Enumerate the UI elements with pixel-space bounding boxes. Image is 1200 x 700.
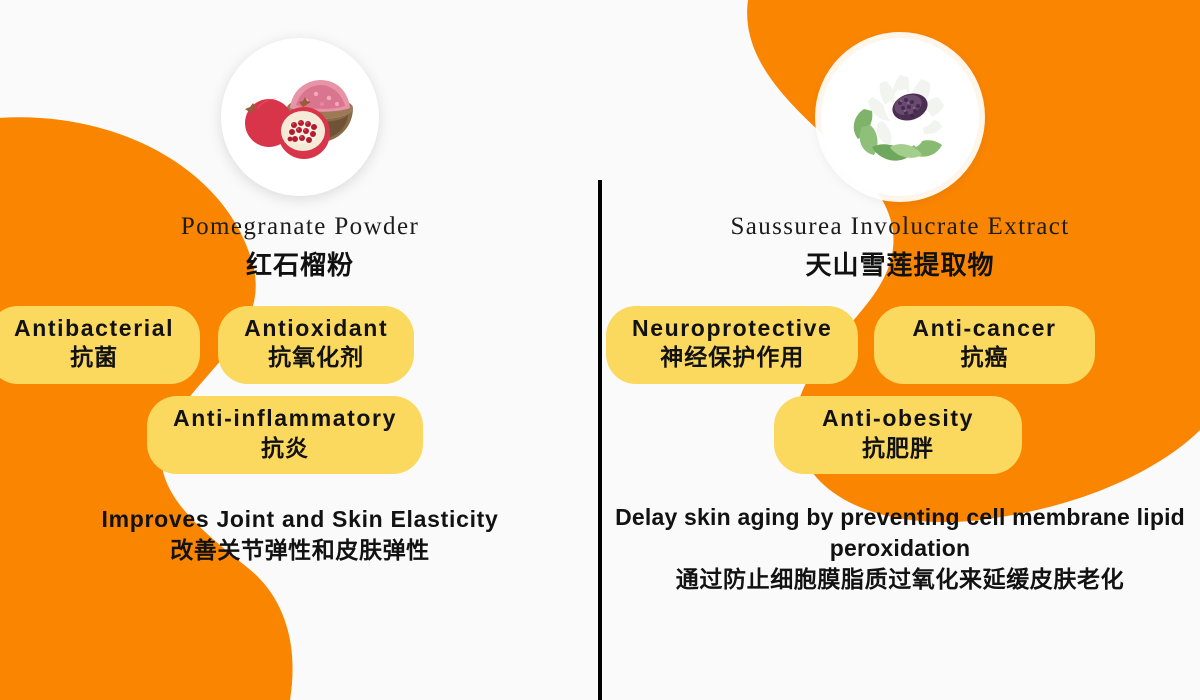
badge-label-cn: 抗菌 [14,343,174,372]
snow-lotus-illustration [834,51,966,183]
badge-label-cn: 神经保护作用 [632,343,832,372]
badge-label-cn: 抗肥胖 [822,434,974,463]
pomegranate-powder-image [221,38,379,196]
panel-description: Delay skin aging by preventing cell memb… [610,502,1190,594]
badge-label-en: Antioxidant [244,315,388,343]
badge-antioxidant[interactable]: Antioxidant 抗氧化剂 [218,306,414,384]
badge-anti-cancer[interactable]: Anti-cancer 抗癌 [874,306,1094,384]
badge-row: Antibacterial 抗菌 Antioxidant 抗氧化剂 [0,306,600,384]
description-en: Delay skin aging by preventing cell memb… [610,502,1190,564]
panel-title-en: Pomegranate Powder [181,213,419,242]
badge-label-en: Anti-cancer [912,315,1056,343]
badge-group: Neuroprotective 神经保护作用 Anti-cancer 抗癌 An… [600,306,1200,487]
badge-label-en: Anti-inflammatory [173,405,397,433]
description-en: Improves Joint and Skin Elasticity [30,504,570,535]
badge-row: Anti-obesity 抗肥胖 [598,396,1198,474]
badge-label-cn: 抗氧化剂 [244,343,388,372]
badge-neuroprotective[interactable]: Neuroprotective 神经保护作用 [606,306,858,384]
badge-anti-obesity[interactable]: Anti-obesity 抗肥胖 [774,396,1022,474]
badge-anti-inflammatory[interactable]: Anti-inflammatory 抗炎 [147,396,423,474]
infographic-canvas: Pomegranate Powder 红石榴粉 Antibacterial 抗菌… [0,0,1200,700]
badge-label-en: Neuroprotective [632,315,832,343]
panel-pomegranate: Pomegranate Powder 红石榴粉 Antibacterial 抗菌… [0,0,600,700]
badge-label-cn: 抗炎 [173,434,397,463]
panel-description: Improves Joint and Skin Elasticity 改善关节弹… [30,504,570,566]
badge-label-en: Antibacterial [14,315,174,343]
panel-title-cn: 红石榴粉 [246,245,354,282]
panel-title-en: Saussurea Involucrate Extract [730,213,1069,242]
snow-lotus-flower-image [821,38,979,196]
description-cn: 改善关节弹性和皮肤弹性 [30,535,570,566]
badge-row: Neuroprotective 神经保护作用 Anti-cancer 抗癌 [594,306,1200,384]
badge-row: Anti-inflammatory 抗炎 [0,396,585,474]
badge-group: Antibacterial 抗菌 Antioxidant 抗氧化剂 Anti-i… [0,306,600,487]
badge-antibacterial[interactable]: Antibacterial 抗菌 [0,306,200,384]
panel-title-cn: 天山雪莲提取物 [805,245,994,282]
panel-saussurea: Saussurea Involucrate Extract 天山雪莲提取物 Ne… [600,0,1200,700]
pomegranate-illustration [234,51,366,183]
badge-label-en: Anti-obesity [822,405,974,433]
description-cn: 通过防止细胞膜脂质过氧化来延缓皮肤老化 [610,564,1190,595]
badge-label-cn: 抗癌 [912,343,1056,372]
